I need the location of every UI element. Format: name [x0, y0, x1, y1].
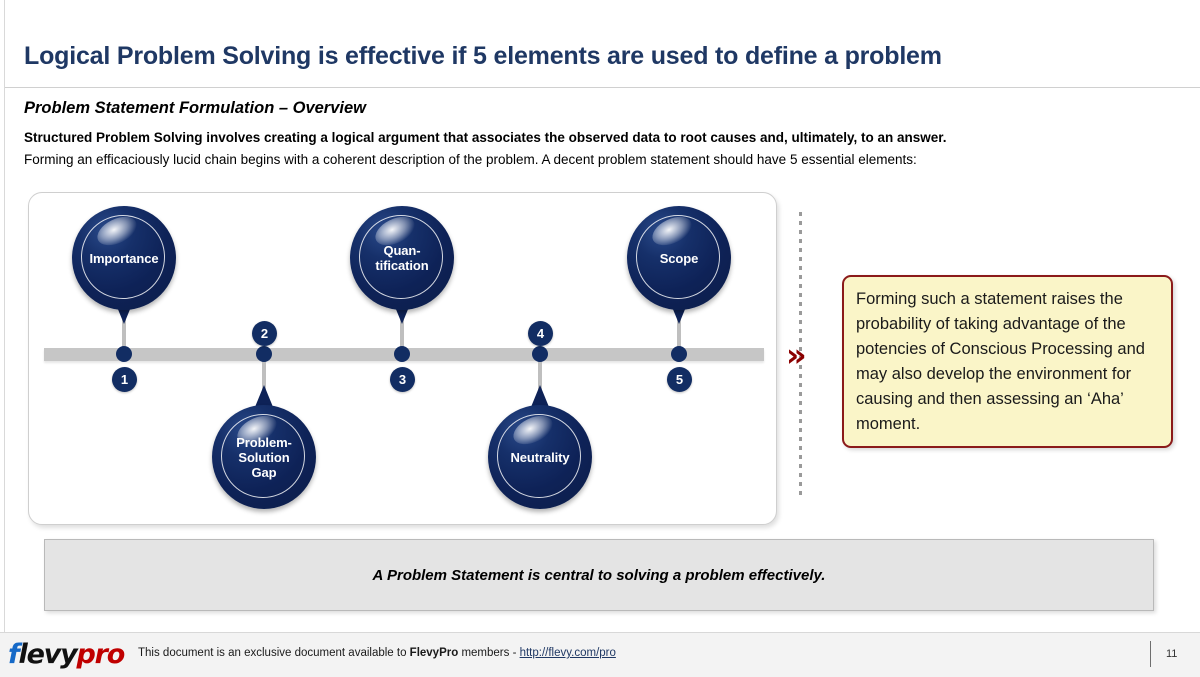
element-number-4: 4	[528, 321, 553, 346]
timeline-dot-2	[256, 346, 272, 362]
element-label-3: Quan- tification	[350, 206, 454, 310]
element-label-2-line1: Problem-	[236, 435, 292, 450]
element-number-2: 2	[252, 321, 277, 346]
timeline-dot-4	[532, 346, 548, 362]
element-label-2-line3: Gap	[252, 465, 277, 480]
element-label-3-line2: tification	[375, 258, 428, 273]
footer-note-middle: members -	[458, 647, 519, 659]
footer-note: This document is an exclusive document a…	[138, 647, 616, 659]
element-label-4: Neutrality	[488, 405, 592, 509]
callout-box: Forming such a statement raises the prob…	[842, 275, 1173, 448]
footer-note-prefix: This document is an exclusive document a…	[138, 647, 410, 659]
section-subtitle: Problem Statement Formulation – Overview	[24, 99, 366, 118]
element-balloon-scope[interactable]: Scope	[627, 206, 731, 310]
logo-text-levy: levy	[19, 639, 77, 670]
element-balloon-importance[interactable]: Importance	[72, 206, 176, 310]
summary-banner: A Problem Statement is central to solvin…	[44, 539, 1154, 611]
lead-paragraph-bold: Structured Problem Solving involves crea…	[24, 130, 947, 145]
flevypro-logo: flevypro	[8, 639, 124, 670]
timeline-dot-5	[671, 346, 687, 362]
page-title: Logical Problem Solving is effective if …	[24, 42, 1174, 71]
lead-paragraph: Forming an efficaciously lucid chain beg…	[24, 152, 917, 167]
element-label-1: Importance	[72, 206, 176, 310]
title-underline	[5, 87, 1200, 88]
element-balloon-problem-solution-gap[interactable]: Problem- Solution Gap	[212, 405, 316, 509]
element-balloon-quantification[interactable]: Quan- tification	[350, 206, 454, 310]
logo-letter-f: f	[8, 639, 19, 670]
element-label-5: Scope	[627, 206, 731, 310]
element-number-3: 3	[390, 367, 415, 392]
summary-banner-text: A Problem Statement is central to solvin…	[373, 567, 826, 584]
element-label-3-line1: Quan-	[383, 243, 420, 258]
footer-divider	[1150, 641, 1151, 667]
balloon-tail-icon	[531, 385, 549, 407]
element-label-2: Problem- Solution Gap	[212, 405, 316, 509]
page-number: 11	[1166, 648, 1177, 660]
callout-text: Forming such a statement raises the prob…	[856, 287, 1163, 437]
left-edge-rule	[4, 0, 5, 632]
timeline-dot-1	[116, 346, 132, 362]
balloon-tail-icon	[255, 385, 273, 407]
element-label-2-line2: Solution	[238, 450, 289, 465]
footer-note-brand: FlevyPro	[410, 647, 459, 659]
element-balloon-neutrality[interactable]: Neutrality	[488, 405, 592, 509]
double-chevron-right-icon: »	[786, 339, 807, 371]
footer-link[interactable]: http://flevy.com/pro	[520, 647, 616, 659]
logo-text-pro: pro	[77, 639, 125, 670]
element-number-1: 1	[112, 367, 137, 392]
timeline-dot-3	[394, 346, 410, 362]
element-number-5: 5	[667, 367, 692, 392]
